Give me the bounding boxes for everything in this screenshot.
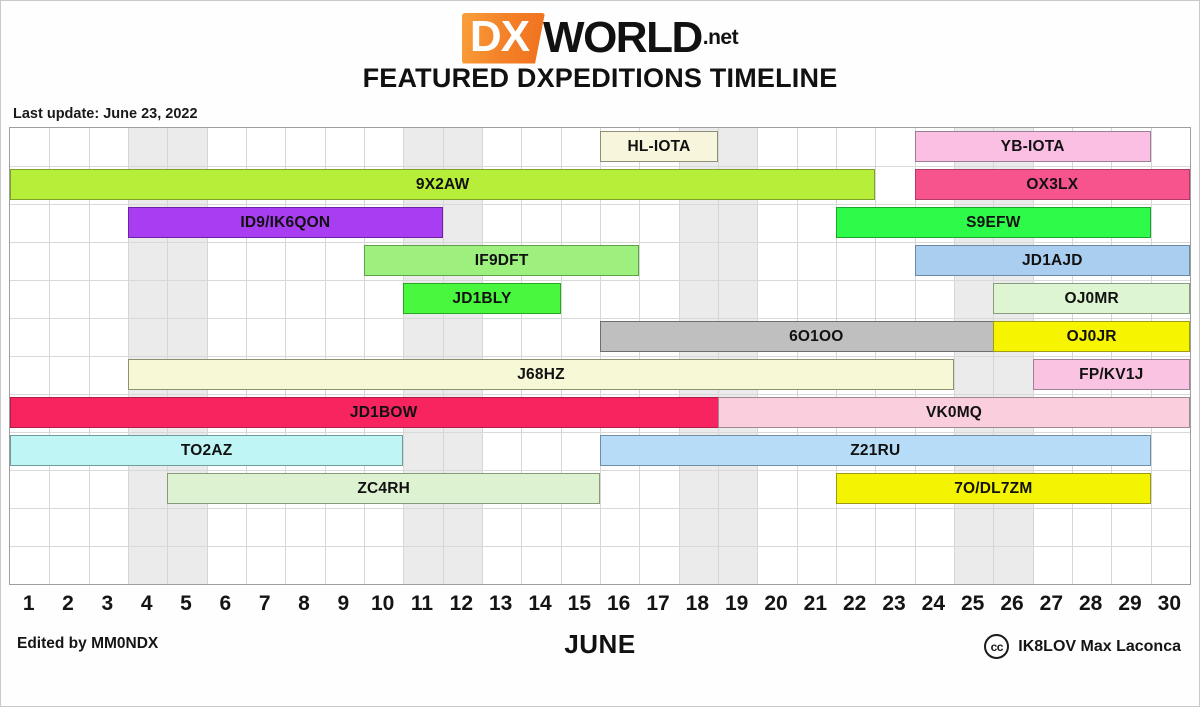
grid-line-horizontal [10,508,1190,509]
gantt-chart: HL-IOTAYB-IOTA9X2AWOX3LXID9/IK6QONS9EFWI… [9,127,1191,585]
day-label-17: 17 [638,585,677,623]
day-label-27: 27 [1032,585,1071,623]
day-label-7: 7 [245,585,284,623]
day-label-28: 28 [1071,585,1110,623]
grid-line-horizontal [10,394,1190,395]
day-axis: 1234567891011121314151617181920212223242… [9,585,1191,623]
gantt-bar[interactable]: OJ0MR [993,283,1190,314]
gantt-bar[interactable]: IF9DFT [364,245,639,276]
gantt-bar[interactable]: OX3LX [915,169,1190,200]
day-label-11: 11 [402,585,441,623]
gantt-bar[interactable]: OJ0JR [993,321,1190,352]
gantt-bar[interactable]: ZC4RH [167,473,600,504]
day-label-24: 24 [914,585,953,623]
grid-line-horizontal [10,318,1190,319]
day-label-19: 19 [717,585,756,623]
day-label-30: 30 [1150,585,1189,623]
day-label-23: 23 [874,585,913,623]
day-label-12: 12 [442,585,481,623]
logo-world-text: WORLD [543,15,702,61]
day-label-3: 3 [88,585,127,623]
day-label-18: 18 [678,585,717,623]
gantt-bar[interactable]: HL-IOTA [600,131,718,162]
day-label-4: 4 [127,585,166,623]
day-label-6: 6 [206,585,245,623]
day-label-21: 21 [796,585,835,623]
gantt-bar[interactable]: ID9/IK6QON [128,207,443,238]
gantt-bar[interactable]: FP/KV1J [1033,359,1190,390]
last-update-label: Last update: June 23, 2022 [13,106,1199,122]
gantt-bar[interactable]: TO2AZ [10,435,403,466]
day-label-16: 16 [599,585,638,623]
page-footer: Edited by MM0NDX JUNE cc IK8LOV Max Laco… [9,625,1191,671]
day-label-20: 20 [756,585,795,623]
page-title: FEATURED DXPEDITIONS TIMELINE [1,63,1199,94]
gantt-bar[interactable]: JD1AJD [915,245,1190,276]
gantt-bar[interactable]: J68HZ [128,359,954,390]
logo-dx-mark: DX [462,13,545,64]
gantt-bar[interactable]: Z21RU [600,435,1151,466]
grid-line-horizontal [10,470,1190,471]
grid-line-horizontal [10,280,1190,281]
grid-line-horizontal [10,204,1190,205]
day-label-15: 15 [560,585,599,623]
day-label-22: 22 [835,585,874,623]
gantt-bar[interactable]: YB-IOTA [915,131,1151,162]
day-label-5: 5 [166,585,205,623]
day-label-14: 14 [520,585,559,623]
credit-block: cc IK8LOV Max Laconca [984,634,1181,659]
grid-line-horizontal [10,242,1190,243]
grid-line-horizontal [10,356,1190,357]
day-label-25: 25 [953,585,992,623]
day-label-10: 10 [363,585,402,623]
day-label-29: 29 [1110,585,1149,623]
credit-author-label: IK8LOV Max Laconca [1018,638,1181,656]
grid-line-horizontal [10,432,1190,433]
gantt-bar[interactable]: S9EFW [836,207,1151,238]
day-label-2: 2 [48,585,87,623]
gantt-bar[interactable]: JD1BOW [10,397,757,428]
day-label-9: 9 [324,585,363,623]
gantt-bar[interactable]: 9X2AW [10,169,875,200]
timeline-page: DX WORLD .net FEATURED DXPEDITIONS TIMEL… [0,0,1200,707]
day-label-1: 1 [9,585,48,623]
gantt-bar[interactable]: VK0MQ [718,397,1190,428]
grid-line-horizontal [10,166,1190,167]
gantt-bar[interactable]: JD1BLY [403,283,560,314]
day-label-26: 26 [992,585,1031,623]
dxworld-logo: DX WORLD .net [1,15,1199,61]
day-label-8: 8 [284,585,323,623]
gantt-bar[interactable]: 6O1OO [600,321,1033,352]
creative-commons-icon: cc [984,634,1009,659]
gantt-bar[interactable]: 7O/DL7ZM [836,473,1151,504]
page-header: DX WORLD .net FEATURED DXPEDITIONS TIMEL… [1,1,1199,94]
logo-net-text: .net [703,15,738,61]
grid-line-horizontal [10,546,1190,547]
day-label-13: 13 [481,585,520,623]
